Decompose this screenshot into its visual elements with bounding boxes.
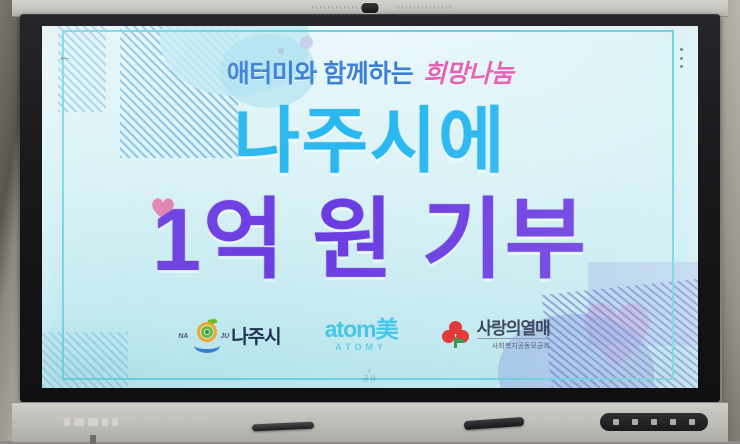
control-button-volume-up[interactable] [670, 419, 676, 425]
control-button-menu[interactable] [689, 419, 695, 425]
slide-subtitle: 애터미와 함께하는희망나눔 [42, 62, 698, 87]
watermark-label: 공유 [363, 376, 378, 384]
room-scene: 애터미와 함께하는희망나눔 나주시에 1억 원 기부 NA [0, 0, 740, 441]
cable [90, 435, 96, 444]
control-button-source[interactable] [632, 419, 638, 425]
logo-atomy: atom美 ATOMY [325, 318, 398, 352]
naju-city-emblem-icon: NA JU [190, 320, 224, 350]
subtitle-blue-text: 애터미와 함께하는 [227, 60, 413, 88]
camera-icon [362, 3, 379, 13]
interactive-display: 애터미와 함께하는희망나눔 나주시에 1억 원 기부 NA [12, 0, 728, 441]
screen-watermark: ‹ 공유 [363, 366, 378, 384]
kebab-menu-icon[interactable] [674, 46, 688, 70]
display-screen[interactable]: 애터미와 함께하는희망나눔 나주시에 1억 원 기부 NA [42, 26, 698, 388]
naju-city-label: 나주시 [231, 322, 280, 349]
headline-line-1: 나주시에 [42, 106, 698, 178]
control-button-bar[interactable] [600, 413, 708, 431]
community-chest-sublabel: 사회복지공동모금회 [477, 338, 550, 351]
control-button-volume-down[interactable] [651, 419, 657, 425]
logo-row: NA JU 나주시 at [42, 318, 698, 352]
display-bezel: 애터미와 함께하는희망나눔 나주시에 1억 원 기부 NA [20, 14, 720, 402]
naju-mark-left-text: NA [178, 333, 188, 340]
atomy-sublabel: ATOMY [335, 342, 387, 352]
microphone-vents-right [398, 6, 454, 9]
headline-line-2: 1억 원 기부 [42, 196, 698, 284]
atomy-word-hanja: 美 [376, 316, 398, 342]
atomy-wordmark: atom美 [325, 318, 398, 341]
stylus-pen-secondary[interactable] [464, 417, 524, 430]
watermark-chevron-icon: ‹ [363, 366, 378, 376]
port-cluster[interactable] [64, 417, 118, 427]
community-chest-label: 사랑의열매 [477, 320, 550, 337]
community-chest-text-block: 사랑의열매 사회복지공동모금회 [477, 320, 550, 351]
atomy-word-latin: atom [325, 316, 376, 342]
back-icon[interactable]: ← [56, 48, 74, 66]
microphone-vents-left [312, 6, 362, 9]
slide-content: 애터미와 함께하는희망나눔 나주시에 1억 원 기부 NA [42, 26, 698, 388]
logo-naju-city: NA JU 나주시 [190, 320, 280, 350]
stylus-pen[interactable] [252, 422, 314, 432]
display-bottom-panel [12, 402, 728, 442]
naju-mark-right-text: JU [220, 333, 229, 340]
control-button-power[interactable] [613, 419, 619, 425]
fruit-of-love-berries-icon [442, 321, 470, 349]
subtitle-pink-text: 희망나눔 [423, 60, 513, 88]
logo-community-chest: 사랑의열매 사회복지공동모금회 [442, 320, 550, 351]
